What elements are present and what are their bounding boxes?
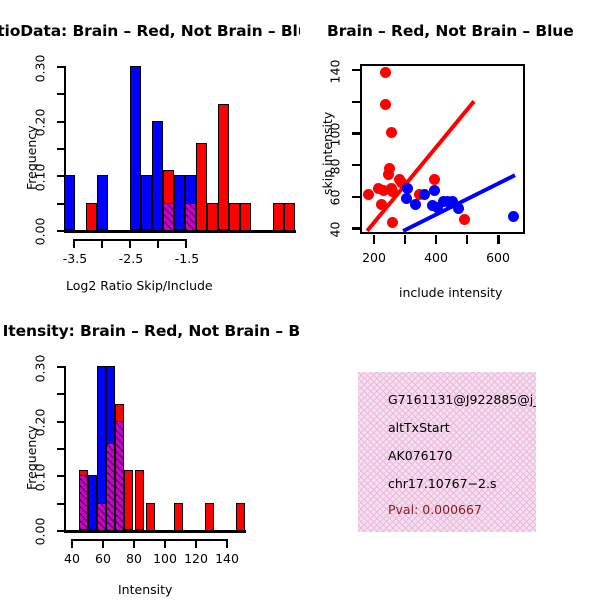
scatter-x-tick-200 [373,235,375,244]
intensity-y-tick-0.15 [57,448,65,450]
scatter-plot-area [360,64,525,234]
ratio-x-axis-extend [239,230,296,233]
bar-intensity-11 [236,503,245,531]
scatter-y-ticklabel-140: 140 [328,56,343,88]
bar-ratio-6 [152,121,163,231]
info-line-probe-id: G7161131@J922885@j_ [388,392,536,407]
scatter-x-tick-300 [404,235,406,244]
bar-intensity-4-overlap [106,443,115,531]
scatter-x-tick-500 [466,235,468,244]
scatter-point-not-brain [429,185,440,196]
scatter-point-not-brain [410,199,421,210]
info-line-event-type: altTxStart [388,420,450,435]
ratio-y-tick-0.20 [57,121,65,123]
intensity-y-ticklabel-0.20: 0.20 [33,405,48,441]
bar-ratio-11 [207,203,218,231]
scatter-x-tick-400 [435,235,437,244]
scatter-point-not-brain [508,211,519,222]
ratio-y-tick-0.30 [57,66,65,68]
ratio-y-tick-0.25 [57,93,65,95]
intensity-x-tick-rule [71,539,228,541]
intensity-y-tick-0.05 [57,503,65,505]
ratio-histogram-title-clip: RatioData: Brain – Red, Not Brain – Blu [0,22,300,44]
intensity-y-tick-0.25 [57,393,65,395]
scatter-point-brain [376,199,387,210]
intensity-x-axis-extend [236,530,246,533]
bar-intensity-7 [135,470,144,530]
scatter-y-tick-60 [352,196,361,198]
bar-intensity-5-overlap [115,421,124,531]
bar-ratio-15 [273,203,284,231]
intensity-histogram-title-clip: ne Itensity: Brain – Red, Not Brain – B [0,322,300,344]
ratio-y-tick-0.15 [57,148,65,150]
intensity-y-ticklabel-0.10: 0.10 [33,460,48,496]
intensity-histogram-title: ne Itensity: Brain – Red, Not Brain – B [0,322,300,340]
panel-intensity-scatter: Brain – Red, Not Brain – Blue skip inten… [300,0,600,300]
info-line-accession: AK076170 [388,448,452,463]
ratio-y-ticklabel-0.00: 0.00 [33,214,48,250]
info-line-pvalue: Pval: 0.000667 [388,502,482,517]
bar-intensity-1-overlap [79,475,88,530]
bar-intensity-10 [205,503,214,531]
info-line-coordinate: chr17.10767−2.s [388,476,497,491]
intensity-histogram-xlabel: Intensity [118,582,172,597]
scatter-x-tick-600 [497,235,499,244]
scatter-y-ticklabel-60: 60 [328,182,343,214]
intensity-y-tick-0.30 [57,366,65,368]
intensity-x-ticklabel-140: 140 [207,551,247,566]
intensity-y-ticklabel-0.00: 0.00 [33,514,48,550]
ratio-histogram-title: RatioData: Brain – Red, Not Brain – Blu [0,22,300,40]
bar-ratio-9-overlap [185,203,196,231]
intensity-y-tick-0.20 [57,421,65,423]
scatter-y-tick-40 [352,227,361,229]
bar-intensity-6 [124,470,133,530]
ratio-x-tick-rule [73,239,187,241]
bar-ratio-12 [218,104,229,230]
ratio-histogram-xlabel: Log2 Ratio Skip/Include [66,278,213,293]
bar-intensity-8 [146,503,155,531]
intensity-y-ticklabel-0.30: 0.30 [33,351,48,387]
annotation-info-box: G7161131@J922885@j_ altTxStart AK076170 … [358,372,536,532]
scatter-y-ticklabel-40: 40 [328,214,343,246]
scatter-y-ticklabel-80: 80 [328,151,343,183]
scatter-y-tick-120 [352,101,361,103]
intensity-y-tick-0.10 [57,475,65,477]
scatter-y-tick-80 [352,164,361,166]
panel-ratio-histogram: RatioData: Brain – Red, Not Brain – Blu … [0,0,300,300]
scatter-title: Brain – Red, Not Brain – Blue [327,22,574,40]
bar-intensity-2 [88,475,97,530]
scatter-xlabel: include intensity [399,285,502,300]
scatter-y-tick-100 [352,132,361,134]
scatter-y-ticklabel-100: 100 [328,119,343,151]
scatter-point-brain [383,169,394,180]
scatter-point-brain [380,67,391,78]
panel-intensity-histogram: ne Itensity: Brain – Red, Not Brain – B … [0,300,300,600]
scatter-point-brain [429,174,440,185]
scatter-x-ticklabel-400: 400 [415,250,457,265]
ratio-x-ticklabel-minus1.5: -1.5 [166,251,208,266]
bar-ratio-14 [240,203,251,231]
ratio-x-ticklabel-minus2.5: -2.5 [110,251,152,266]
scatter-point-brain [386,127,397,138]
bar-ratio-2 [86,203,97,231]
scatter-x-ticklabel-200: 200 [353,250,395,265]
bar-intensity-3-overlap [97,503,106,531]
bar-ratio-5 [141,175,152,230]
ratio-x-ticklabel-minus3.5: -3.5 [54,251,96,266]
bar-ratio-3 [97,175,108,230]
bar-ratio-13 [229,203,240,231]
ratio-y-ticklabel-0.30: 0.30 [33,51,48,87]
scatter-x-ticklabel-600: 600 [477,250,519,265]
figure-canvas: RatioData: Brain – Red, Not Brain – Blu … [0,0,600,600]
bar-ratio-16 [284,203,295,231]
scatter-title-clip: Brain – Red, Not Brain – Blue [300,22,600,44]
bar-ratio-7-overlap [163,203,174,231]
bar-ratio-4 [130,66,141,230]
scatter-y-tick-140 [352,69,361,71]
bar-ratio-10 [196,143,207,231]
bar-ratio-1 [64,175,75,230]
bar-intensity-9 [174,503,183,531]
bar-ratio-8 [174,175,185,230]
ratio-y-ticklabel-0.10: 0.10 [33,160,48,196]
ratio-y-ticklabel-0.20: 0.20 [33,105,48,141]
